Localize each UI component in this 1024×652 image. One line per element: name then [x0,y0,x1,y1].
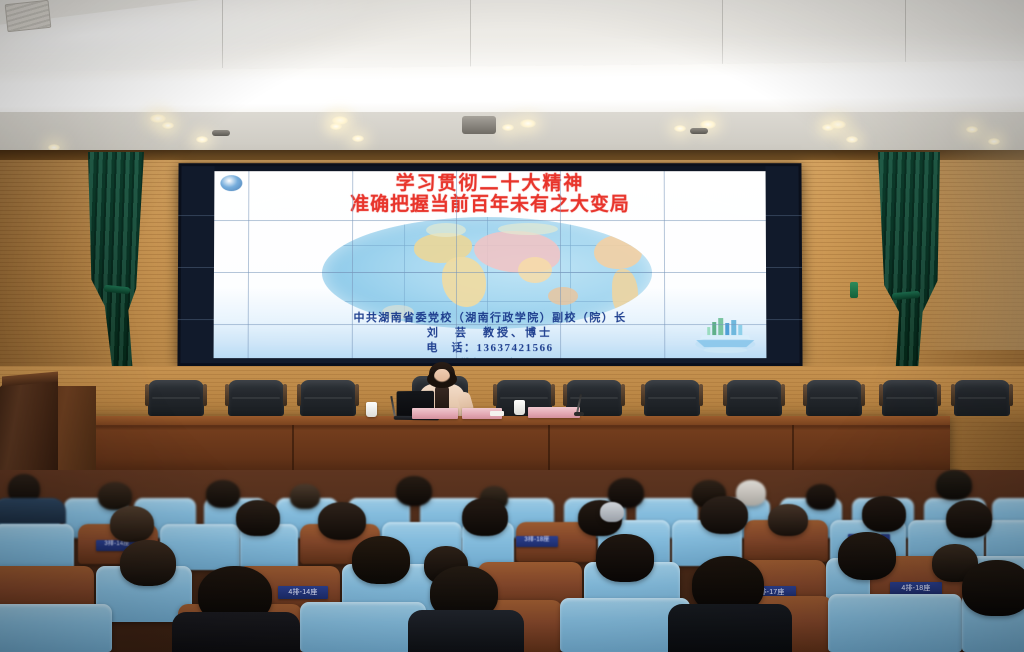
seat[interactable] [0,524,74,570]
attendee-shoulders [408,610,524,652]
slide-title-line2: 准确把握当前百年未有之大变局 [214,194,766,215]
seat[interactable] [0,604,112,652]
head-table [78,416,950,476]
attendee-head [862,496,906,532]
attendee-head [110,506,154,542]
attendee-head [206,480,240,508]
exec-chair[interactable] [726,380,782,416]
downlight-icon [502,124,514,131]
downlight-icon [822,124,834,131]
attendee-head [946,500,992,538]
attendee-shoulders [0,498,66,524]
nameplate [412,408,458,419]
attendee-head [596,534,654,582]
ship-city-illustration-icon [690,314,760,354]
slide-footer-tel: 电 话：13637421566 [214,341,767,356]
attendee-head [396,476,432,506]
downlight-icon [966,126,978,133]
air-vent-icon [5,0,52,32]
exec-chair[interactable] [300,380,356,416]
slide-footer-date: 湖南 2023年 [214,356,767,358]
attendee-head [318,502,366,540]
attendee-head [806,484,836,510]
document-sheet-icon [490,411,504,416]
attendee-head [120,540,176,586]
downlight-icon [674,125,686,132]
exec-chair[interactable] [882,380,938,416]
nameplate [528,407,580,418]
attendee-head [290,484,320,509]
led-video-wall[interactable]: 学习贯彻二十大精神 准确把握当前百年未有之大变局 [177,163,802,366]
attendee-head [352,536,410,584]
downlight-icon [330,123,342,130]
exec-chair[interactable] [148,380,204,416]
seat[interactable] [828,594,962,652]
water-mug-icon [514,400,525,415]
exec-chair[interactable] [228,380,284,416]
seat-number-plate: 3排-18座 [516,536,558,547]
slide-footer-name: 刘 芸 教授、博士 [214,326,767,341]
attendee-head [236,500,280,536]
microphone-base [574,412,584,416]
seat-number-plate: 4排-14座 [278,586,328,599]
downlight-icon [162,122,174,129]
conference-hall-photo: 学习贯彻二十大精神 准确把握当前百年未有之大变局 [0,0,1024,652]
presentation-slide: 学习贯彻二十大精神 准确把握当前百年未有之大变局 [214,171,767,358]
downlight-icon [196,136,208,143]
slide-title-line1: 学习贯彻二十大精神 [214,173,765,194]
exec-chair[interactable] [954,380,1010,416]
attendee-head [462,498,508,536]
attendee-cap-icon [600,502,624,522]
attendee-shoulders [172,612,300,652]
wall-exit-sign-icon [850,282,858,298]
slide-title: 学习贯彻二十大精神 准确把握当前百年未有之大变局 [214,173,766,215]
attendee-head [962,560,1024,616]
downlight-icon [352,135,364,142]
attendee-head [936,470,972,500]
ceiling-speaker-icon [690,128,708,134]
attendee-head [838,532,896,580]
speaker-lectern[interactable] [0,372,58,480]
downlight-icon [988,138,1000,145]
exec-chair[interactable] [806,380,862,416]
attendee-head [700,496,748,534]
attendee-shoulders [668,604,792,652]
exec-chair[interactable] [644,380,700,416]
downlight-icon [846,136,858,143]
ceiling-speaker-icon [212,130,230,136]
attendee-head [768,504,808,536]
ceiling-projector-icon [462,116,496,134]
water-mug-icon [366,402,377,417]
slide-footer: 中共湖南省委党校（湖南行政学院）副校（院）长 刘 芸 教授、博士 电 话：136… [214,311,767,358]
